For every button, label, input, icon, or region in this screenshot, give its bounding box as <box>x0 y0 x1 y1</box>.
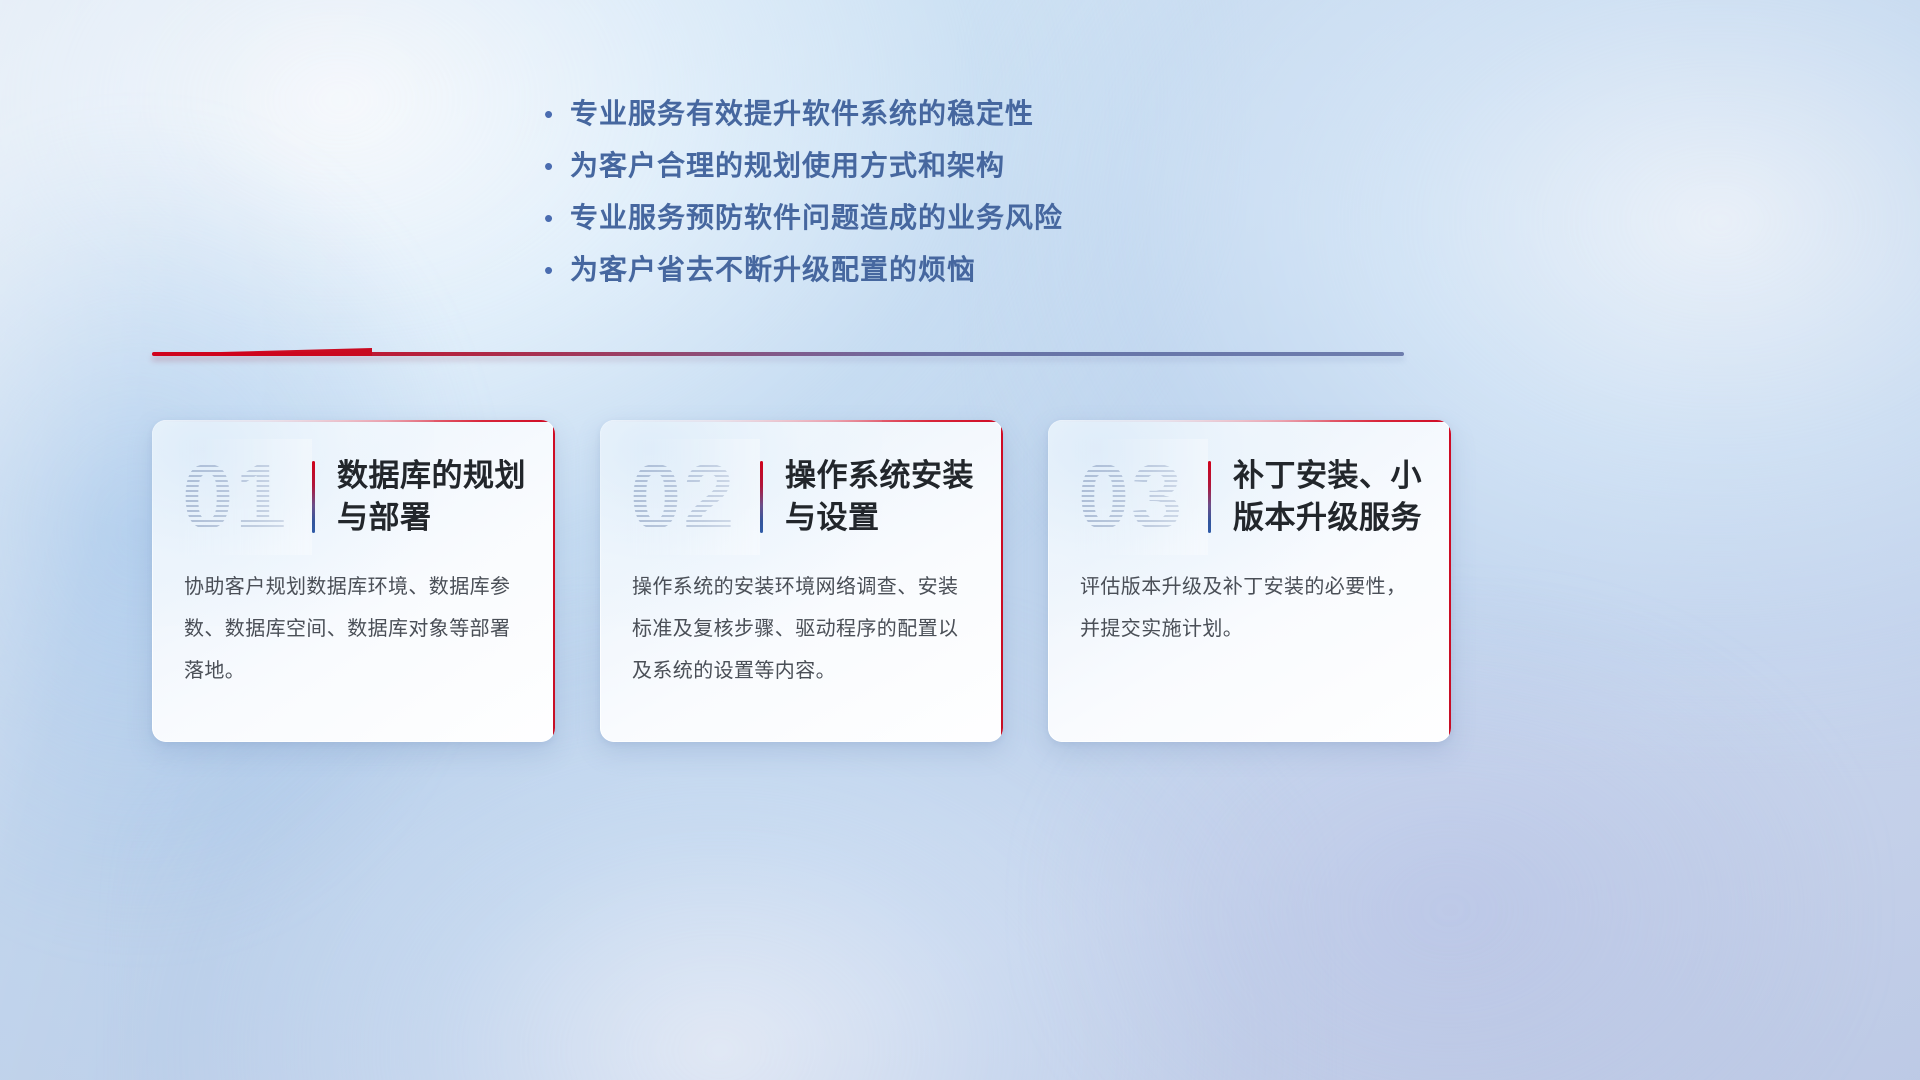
list-item: • 为客户合理的规划使用方式和架构 <box>540 140 1300 192</box>
bullet-dot-icon: • <box>540 244 570 296</box>
bullet-dot-icon: • <box>540 88 570 140</box>
service-card-01[interactable]: 01 数据库的规划与部署 协助客户规划数据库环境、数据库参数、数据库空间、数据库… <box>152 420 555 742</box>
list-item-label: 专业服务预防软件问题造成的业务风险 <box>570 192 1063 244</box>
divider-shadow <box>152 356 1404 361</box>
list-item: • 专业服务预防软件问题造成的业务风险 <box>540 192 1300 244</box>
card-header: 02 操作系统安装与设置 <box>600 420 1003 548</box>
bullet-dot-icon: • <box>540 192 570 244</box>
card-title: 数据库的规划与部署 <box>337 455 555 539</box>
section-divider <box>152 346 1404 366</box>
card-description: 协助客户规划数据库环境、数据库参数、数据库空间、数据库对象等部署落地。 <box>152 548 555 692</box>
list-item: • 专业服务有效提升软件系统的稳定性 <box>540 88 1300 140</box>
card-number-watermark: 02 <box>630 445 756 549</box>
service-card-03[interactable]: 03 补丁安装、小版本升级服务 评估版本升级及补丁安装的必要性，并提交实施计划。 <box>1048 420 1451 742</box>
card-description: 操作系统的安装环境网络调查、安装标准及复核步骤、驱动程序的配置以及系统的设置等内… <box>600 548 1003 692</box>
card-number-watermark: 03 <box>1078 445 1204 549</box>
card-description: 评估版本升级及补丁安装的必要性，并提交实施计划。 <box>1048 548 1451 650</box>
card-title-accent-bar <box>760 461 763 533</box>
card-title: 补丁安装、小版本升级服务 <box>1233 455 1451 539</box>
slide-canvas: • 专业服务有效提升软件系统的稳定性 • 为客户合理的规划使用方式和架构 • 专… <box>0 0 1920 1080</box>
card-title-accent-bar <box>1208 461 1211 533</box>
bullet-dot-icon: • <box>540 140 570 192</box>
card-header: 03 补丁安装、小版本升级服务 <box>1048 420 1451 548</box>
service-card-02[interactable]: 02 操作系统安装与设置 操作系统的安装环境网络调查、安装标准及复核步骤、驱动程… <box>600 420 1003 742</box>
list-item-label: 为客户省去不断升级配置的烦恼 <box>570 244 976 296</box>
list-item-label: 为客户合理的规划使用方式和架构 <box>570 140 1005 192</box>
card-number-watermark: 01 <box>182 445 308 549</box>
card-header: 01 数据库的规划与部署 <box>152 420 555 548</box>
card-title: 操作系统安装与设置 <box>785 455 1003 539</box>
service-card-group: 01 数据库的规划与部署 协助客户规划数据库环境、数据库参数、数据库空间、数据库… <box>152 420 1452 742</box>
benefits-list: • 专业服务有效提升软件系统的稳定性 • 为客户合理的规划使用方式和架构 • 专… <box>540 88 1300 296</box>
list-item: • 为客户省去不断升级配置的烦恼 <box>540 244 1300 296</box>
list-item-label: 专业服务有效提升软件系统的稳定性 <box>570 88 1034 140</box>
card-title-accent-bar <box>312 461 315 533</box>
